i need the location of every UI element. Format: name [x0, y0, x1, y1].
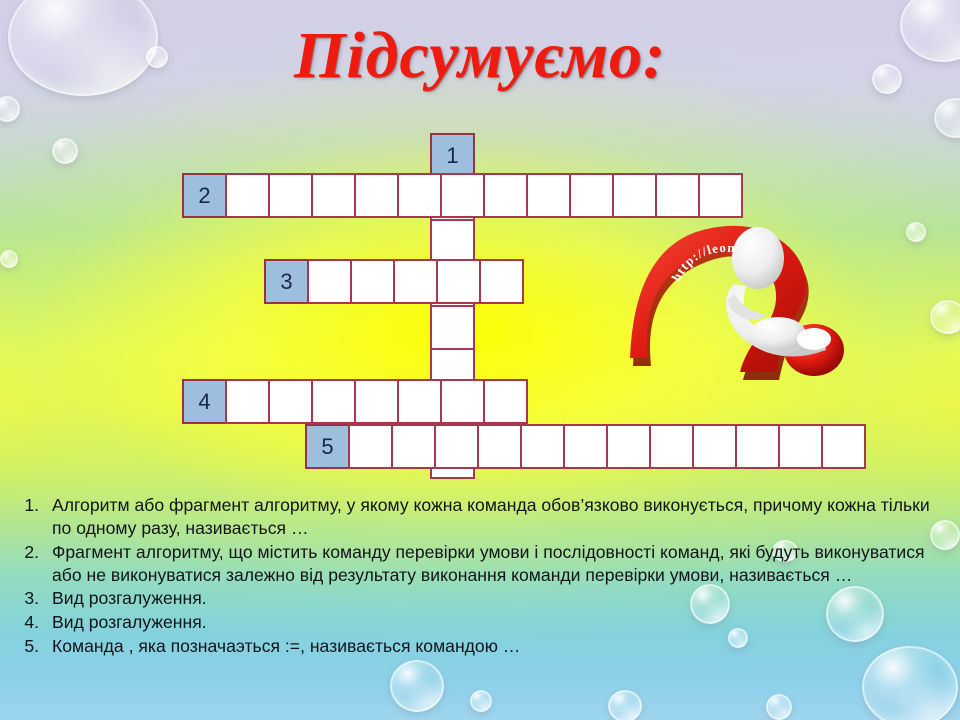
crossword-letter-cell[interactable]	[268, 379, 313, 424]
water-droplet	[470, 690, 492, 712]
crossword-letter-cell[interactable]	[520, 424, 565, 469]
crossword-clue-number-2: 2	[182, 173, 227, 218]
water-droplet	[766, 694, 792, 720]
clue-text: Вид розгалуження.	[52, 611, 948, 634]
crossword-letter-cell[interactable]	[778, 424, 823, 469]
crossword-letter-cell[interactable]	[821, 424, 866, 469]
crossword-letter-cell[interactable]	[268, 173, 313, 218]
crossword-letter-cell[interactable]	[350, 259, 395, 304]
crossword-clue-number-3: 3	[264, 259, 309, 304]
crossword-letter-cell[interactable]	[479, 259, 524, 304]
crossword-letter-cell[interactable]	[698, 173, 743, 218]
crossword-letter-cell[interactable]	[477, 424, 522, 469]
clue-text: Алгоритм або фрагмент алгоритму, у якому…	[52, 494, 948, 540]
crossword-letter-cell[interactable]	[649, 424, 694, 469]
crossword-letter-cell[interactable]	[311, 173, 356, 218]
crossword-letter-cell[interactable]	[430, 219, 475, 264]
water-droplet	[390, 660, 444, 712]
clue-text: Команда , яка позначаэться :=, називаєть…	[52, 635, 948, 658]
crossword-letter-cell[interactable]	[569, 173, 614, 218]
crossword-letter-cell[interactable]	[391, 424, 436, 469]
clue-item: 4.Вид розгалуження.	[14, 611, 948, 634]
crossword-letter-cell[interactable]	[440, 173, 485, 218]
crossword-letter-cell[interactable]	[692, 424, 737, 469]
clue-list: 1.Алгоритм або фрагмент алгоритму, у яко…	[14, 494, 948, 659]
crossword-clue-number-1: 1	[430, 133, 475, 178]
crossword-letter-cell[interactable]	[440, 379, 485, 424]
water-droplet	[608, 690, 642, 720]
clue-number: 3.	[14, 587, 52, 610]
crossword-letter-cell[interactable]	[563, 424, 608, 469]
crossword-letter-cell[interactable]	[735, 424, 780, 469]
crossword-letter-cell[interactable]	[606, 424, 651, 469]
crossword-letter-cell[interactable]	[397, 379, 442, 424]
crossword-clue-number-5: 5	[305, 424, 350, 469]
crossword-letter-cell[interactable]	[354, 173, 399, 218]
crossword-letter-cell[interactable]	[430, 305, 475, 350]
clue-number: 1.	[14, 494, 52, 517]
crossword-letter-cell[interactable]	[434, 424, 479, 469]
crossword-letter-cell[interactable]	[483, 173, 528, 218]
crossword-letter-cell[interactable]	[393, 259, 438, 304]
crossword-letter-cell[interactable]	[307, 259, 352, 304]
question-mark-icon: http://leonyev.net	[618, 222, 858, 390]
clue-number: 5.	[14, 635, 52, 658]
crossword-letter-cell[interactable]	[436, 259, 481, 304]
crossword-letter-cell[interactable]	[526, 173, 571, 218]
crossword-letter-cell[interactable]	[612, 173, 657, 218]
crossword-letter-cell[interactable]	[354, 379, 399, 424]
clue-item: 3.Вид розгалуження.	[14, 587, 948, 610]
crossword-letter-cell[interactable]	[348, 424, 393, 469]
clue-text: Вид розгалуження.	[52, 587, 948, 610]
clue-text: Фрагмент алгоритму, що містить команду п…	[52, 541, 948, 587]
crossword-letter-cell[interactable]	[655, 173, 700, 218]
crossword-letter-cell[interactable]	[397, 173, 442, 218]
crossword-clue-number-4: 4	[182, 379, 227, 424]
crossword-letter-cell[interactable]	[311, 379, 356, 424]
clue-number: 4.	[14, 611, 52, 634]
crossword-letter-cell[interactable]	[225, 379, 270, 424]
clue-item: 2.Фрагмент алгоритму, що містить команду…	[14, 541, 948, 587]
clue-item: 5.Команда , яка позначаэться :=, називає…	[14, 635, 948, 658]
crossword-letter-cell[interactable]	[225, 173, 270, 218]
slide-canvas: Підсумуємо: 12345	[0, 0, 960, 720]
crossword-letter-cell[interactable]	[483, 379, 528, 424]
clue-number: 2.	[14, 541, 52, 564]
clue-item: 1.Алгоритм або фрагмент алгоритму, у яко…	[14, 494, 948, 540]
